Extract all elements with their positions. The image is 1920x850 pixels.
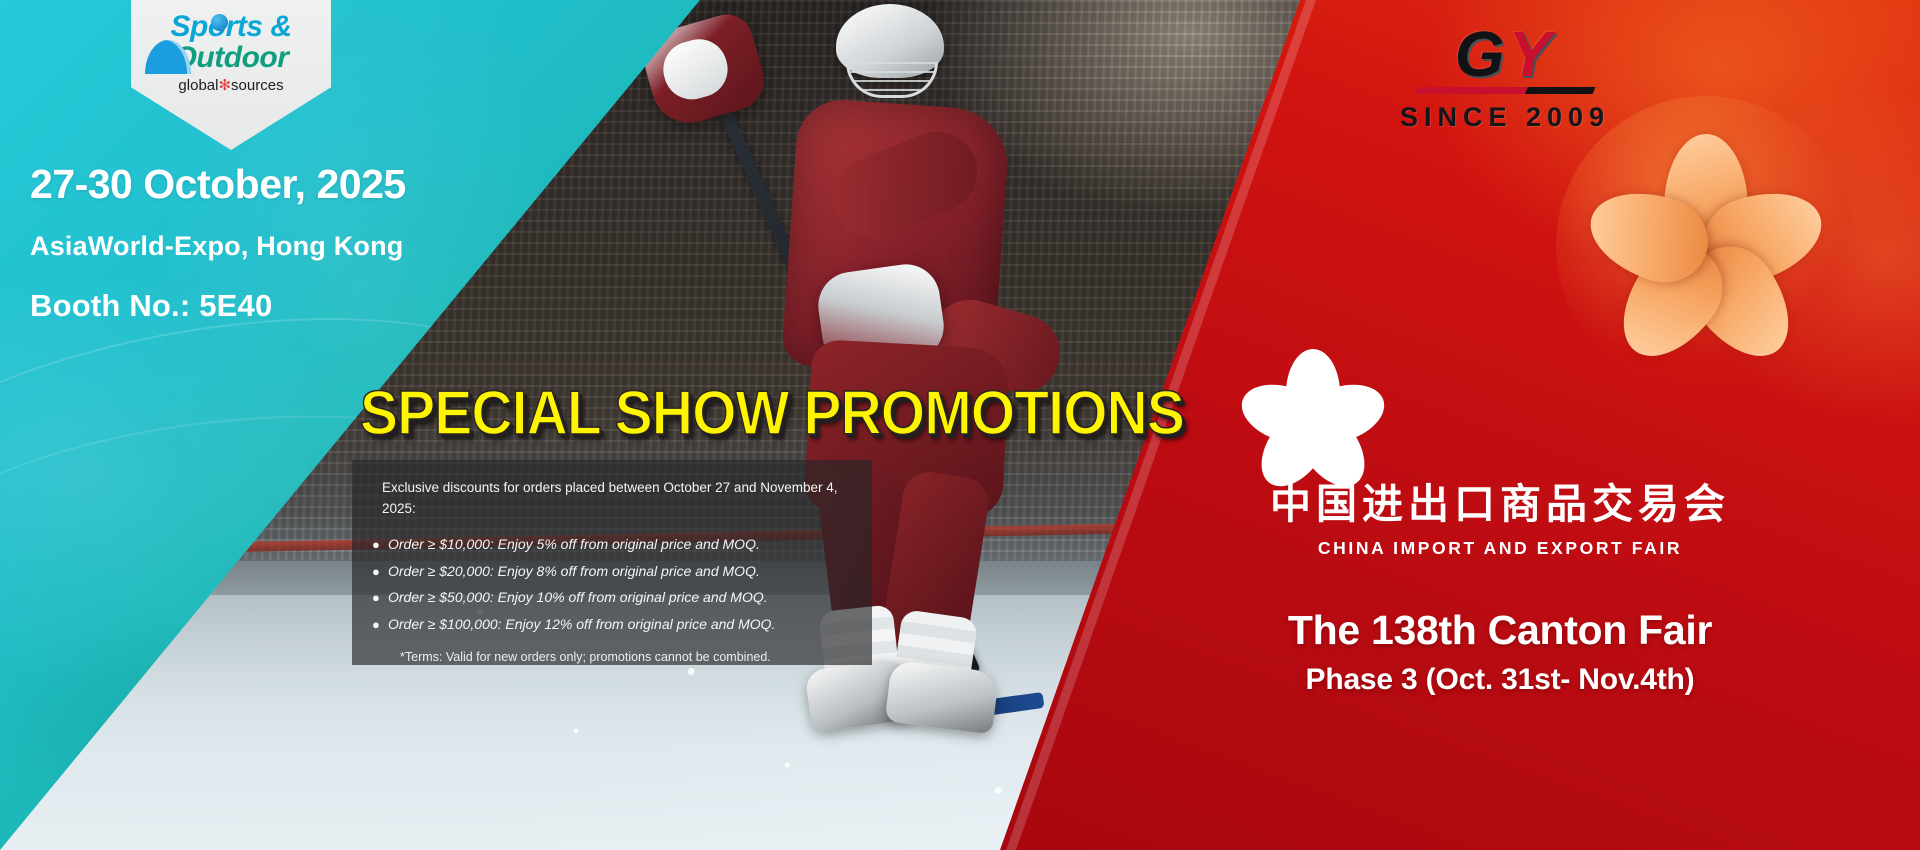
canton-fair-block: 中国进出口商品交易会 CHINA IMPORT AND EXPORT FAIR …	[1100, 352, 1900, 697]
gy-since-text: SINCE 2009	[1392, 102, 1618, 133]
gs-sources-text: sources	[231, 77, 284, 94]
canton-fair-phase: Phase 3 (Oct. 31st- Nov.4th)	[1100, 663, 1900, 697]
promotions-headline: SPECIAL SHOW PROMOTIONS	[360, 378, 1184, 449]
promotional-banner: Sports & Outdoor global✻sources GY SINCE…	[0, 0, 1920, 850]
event-date: 27-30 October, 2025	[30, 162, 406, 207]
event-venue: AsiaWorld-Expo, Hong Kong	[30, 231, 406, 262]
gs-global-text: global	[178, 77, 218, 94]
list-item: ● Order ≥ $20,000: Enjoy 8% off from ori…	[372, 558, 856, 585]
tier-text: Order ≥ $20,000: Enjoy 8% off from origi…	[388, 558, 760, 585]
bullet-icon: ●	[372, 560, 388, 585]
tier-text: Order ≥ $100,000: Enjoy 12% off from ori…	[388, 611, 775, 638]
promotion-tier-list: ● Order ≥ $10,000: Enjoy 5% off from ori…	[372, 531, 856, 638]
promotion-terms: *Terms: Valid for new orders only; promo…	[400, 650, 856, 664]
canton-fair-title: The 138th Canton Fair	[1100, 607, 1900, 654]
player-helmet-cage	[846, 62, 938, 98]
gy-letter-y: Y	[1509, 18, 1556, 90]
canton-fair-pinwheel-watermark-icon	[1556, 96, 1856, 396]
player-left-sleeve	[820, 119, 989, 249]
canton-fair-english-name: CHINA IMPORT AND EXPORT FAIR	[1100, 538, 1900, 559]
event-info-block: 27-30 October, 2025 AsiaWorld-Expo, Hong…	[30, 162, 406, 324]
canton-fair-chinese-name: 中国进出口商品交易会	[1100, 484, 1900, 525]
global-sources-logo[interactable]: Sports & Outdoor global✻sources	[137, 0, 325, 146]
tier-text: Order ≥ $50,000: Enjoy 10% off from orig…	[388, 584, 768, 611]
bullet-icon: ●	[372, 533, 388, 558]
tier-text: Order ≥ $10,000: Enjoy 5% off from origi…	[388, 531, 760, 558]
event-booth-number: Booth No.: 5E40	[30, 288, 406, 324]
list-item: ● Order ≥ $100,000: Enjoy 12% off from o…	[372, 611, 856, 638]
gy-brand-logo[interactable]: GY SINCE 2009	[1392, 24, 1618, 133]
gs-line-global-sources: global✻sources	[143, 76, 319, 94]
gy-letter-g: G	[1455, 18, 1509, 90]
basketball-icon	[211, 14, 228, 31]
bullet-icon: ●	[372, 613, 388, 638]
gs-dot-icon: ✻	[218, 77, 231, 94]
gy-mark: GY	[1392, 24, 1618, 85]
bullet-icon: ●	[372, 586, 388, 611]
list-item: ● Order ≥ $50,000: Enjoy 10% off from or…	[372, 584, 856, 611]
list-item: ● Order ≥ $10,000: Enjoy 5% off from ori…	[372, 531, 856, 558]
promotion-details-panel: Exclusive discounts for orders placed be…	[352, 460, 872, 665]
player-right-skate	[885, 660, 1000, 735]
promotion-lead-text: Exclusive discounts for orders placed be…	[382, 478, 856, 520]
gy-accent-bar	[1415, 87, 1596, 94]
gs-line-sports: Sports &	[143, 12, 319, 42]
